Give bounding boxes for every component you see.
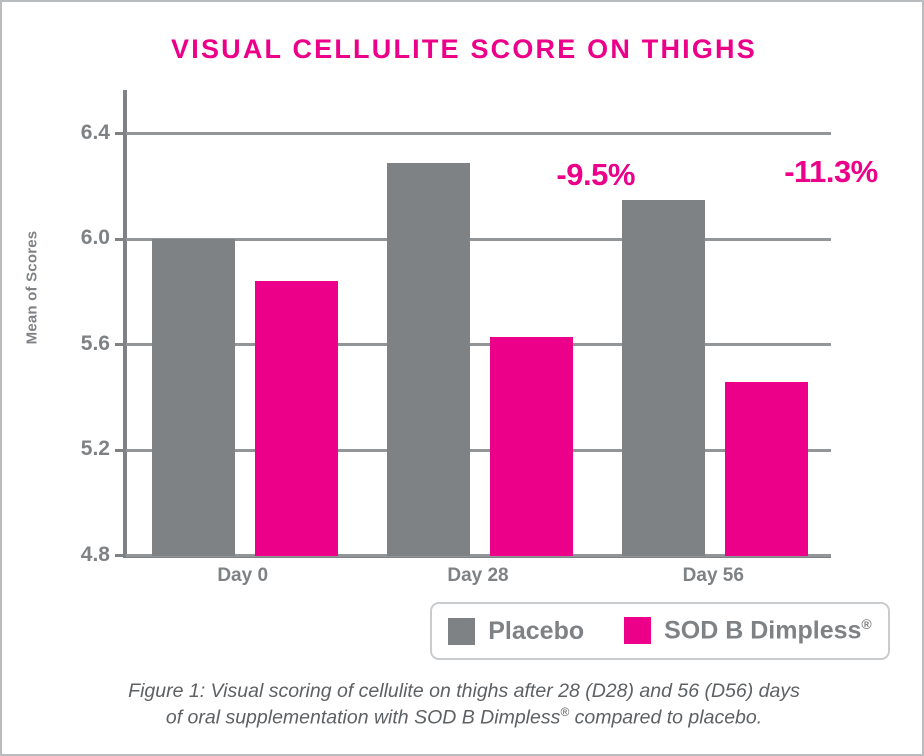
- chart-legend: Placebo SOD B Dimpless®: [430, 602, 890, 660]
- x-axis-label-day-0: Day 0: [125, 565, 360, 587]
- legend-label-product: SOD B Dimpless®: [664, 616, 872, 645]
- x-axis-label-day-56: Day 56: [596, 565, 831, 587]
- y-axis-title: Mean of Scores: [24, 198, 41, 378]
- bar-sod-b-dimpless-day-28: [490, 337, 573, 556]
- legend-item-product: SOD B Dimpless®: [624, 616, 872, 645]
- legend-label-product-text: SOD B Dimpless: [664, 617, 861, 645]
- legend-item-placebo: Placebo: [448, 617, 584, 646]
- caption-registered-icon: ®: [560, 705, 569, 719]
- caption-line-2b: compared to placebo.: [569, 707, 762, 729]
- chart-title: VISUAL CELLULITE SCORE ON THIGHS: [2, 34, 924, 65]
- y-axis-tick-label: 5.6: [50, 332, 110, 356]
- bar-sod-b-dimpless-day-0: [255, 281, 338, 556]
- y-axis-tick-label: 5.2: [50, 437, 110, 461]
- annotation-day-28: -9.5%: [481, 157, 711, 193]
- caption-line-1: Figure 1: Visual scoring of cellulite on…: [128, 680, 800, 702]
- figure-caption: Figure 1: Visual scoring of cellulite on…: [54, 678, 874, 731]
- caption-line-2a: of oral supplementation with SOD B Dimpl…: [166, 707, 561, 729]
- bar-placebo-day-28: [387, 163, 470, 556]
- bar-placebo-day-56: [622, 200, 705, 556]
- x-axis-label-day-28: Day 28: [360, 565, 595, 587]
- y-axis-tick-label: 6.0: [50, 226, 110, 250]
- legend-swatch-product-icon: [624, 617, 651, 644]
- bar-sod-b-dimpless-day-56: [725, 382, 808, 556]
- figure-container: VISUAL CELLULITE SCORE ON THIGHS Mean of…: [0, 0, 924, 756]
- y-axis-tick-label: 6.4: [50, 121, 110, 145]
- y-axis-tick-label: 4.8: [50, 543, 110, 567]
- registered-trademark-icon: ®: [861, 616, 871, 632]
- bar-placebo-day-0: [152, 239, 235, 556]
- legend-swatch-placebo-icon: [448, 618, 475, 645]
- annotation-day-56: -11.3%: [716, 154, 924, 190]
- legend-label-placebo: Placebo: [488, 617, 584, 646]
